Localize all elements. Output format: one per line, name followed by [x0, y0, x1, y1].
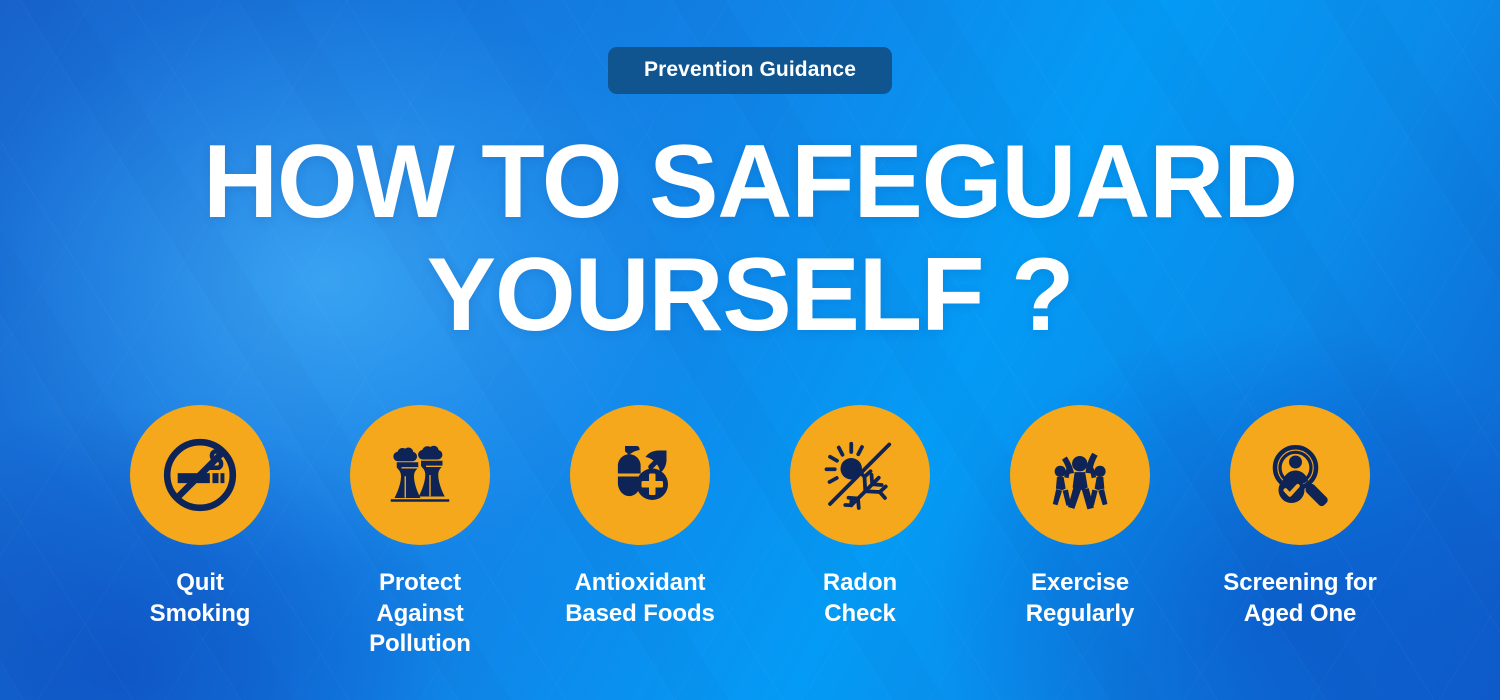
no-smoking-icon [158, 433, 242, 517]
poster-content: Prevention Guidance HOW TO SAFEGUARD YOU… [0, 0, 1500, 700]
prevention-items: Quit Smoking [0, 405, 1500, 660]
icon-circle [1230, 405, 1370, 545]
item-label: Exercise Regularly [1026, 568, 1134, 629]
factory-pollution-icon [380, 435, 460, 515]
prevention-item-screening-for-aged-one: Screening for Aged One [1190, 405, 1410, 629]
prevention-item-exercise-regularly: Exercise Regularly [970, 405, 1190, 629]
icon-circle [570, 405, 710, 545]
icon-circle [130, 405, 270, 545]
prevention-item-antioxidant-based-foods: Antioxidant Based Foods [530, 405, 750, 629]
item-label: Radon Check [823, 568, 897, 629]
prevention-guidance-badge: Prevention Guidance [608, 47, 892, 94]
fruit-plus-icon [600, 435, 680, 515]
icon-circle [1010, 405, 1150, 545]
item-label: Antioxidant Based Foods [565, 568, 715, 629]
badge-row: Prevention Guidance [0, 47, 1500, 94]
item-label: Screening for Aged One [1223, 568, 1376, 629]
item-label: Quit Smoking [150, 568, 251, 629]
page-title-line-1: HOW TO SAFEGUARD [0, 126, 1500, 239]
prevention-item-quit-smoking: Quit Smoking [90, 405, 310, 629]
page-title: HOW TO SAFEGUARD YOURSELF ? [0, 126, 1500, 353]
prevention-item-protect-against-pollution: Protect Against Pollution [310, 405, 530, 660]
icon-circle [350, 405, 490, 545]
item-label: Protect Against Pollution [369, 568, 471, 660]
exercise-people-icon [1039, 434, 1121, 516]
sun-snowflake-icon [820, 435, 900, 515]
prevention-item-radon-check: Radon Check [750, 405, 970, 629]
person-search-check-icon [1260, 435, 1340, 515]
icon-circle [790, 405, 930, 545]
page-title-line-2: YOURSELF ? [0, 239, 1500, 352]
